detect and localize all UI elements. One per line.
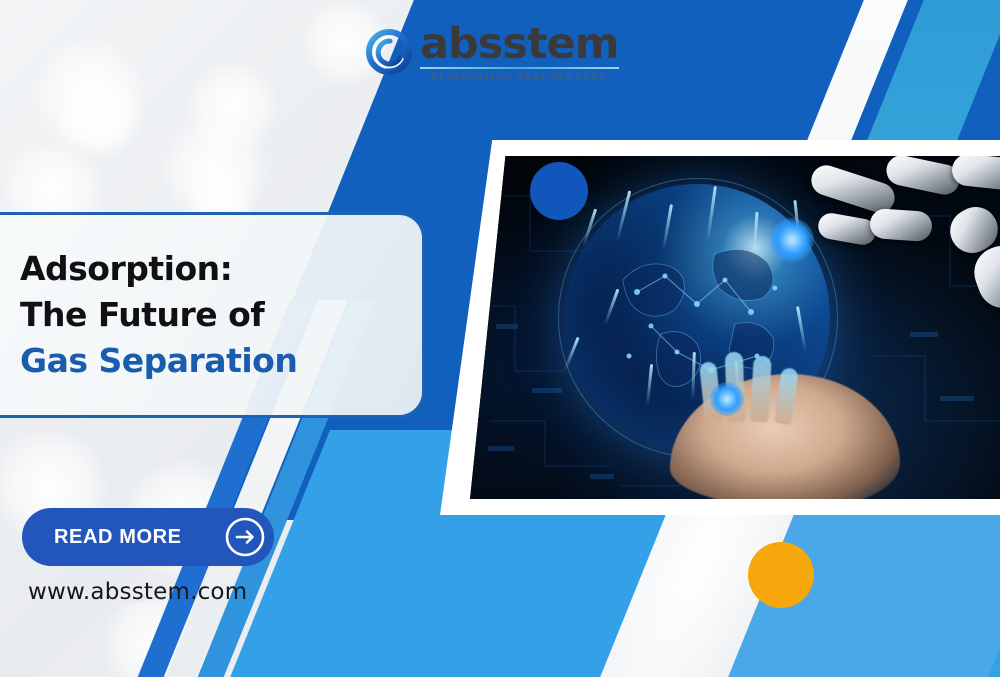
headline-line-2: The Future of — [20, 295, 422, 335]
accent-circle-orange — [748, 542, 814, 608]
accent-circle-blue — [530, 162, 588, 220]
human-finger — [750, 356, 771, 423]
bokeh-light — [90, 600, 230, 677]
robot-finger-segment — [869, 208, 933, 242]
headline-card: Adsorption: The Future of Gas Separation — [0, 212, 425, 418]
headline-line-3: Gas Separation — [20, 341, 422, 381]
robot-finger-segment — [884, 156, 963, 197]
promotional-banner: absstem REINVENTING PERFORMANCE Adsorpti… — [0, 0, 1000, 677]
website-url[interactable]: www.absstem.com — [28, 579, 247, 605]
glow-node — [710, 382, 744, 416]
logo-divider — [420, 67, 619, 69]
bokeh-light — [160, 118, 270, 223]
robot-finger-segment — [816, 211, 878, 247]
read-more-label: READ MORE — [54, 526, 182, 549]
arrow-right-circle-icon — [224, 516, 266, 558]
circular-swirl-icon — [366, 29, 412, 75]
bokeh-light — [185, 62, 280, 152]
read-more-button[interactable]: READ MORE — [22, 508, 274, 566]
glow-node — [770, 218, 814, 262]
brand-logo[interactable]: absstem REINVENTING PERFORMANCE — [366, 24, 619, 81]
logo-wordmark: absstem — [420, 24, 619, 65]
logo-tagline: REINVENTING PERFORMANCE — [420, 72, 619, 81]
headline-line-1: Adsorption: — [20, 249, 422, 289]
bokeh-light — [55, 78, 145, 158]
bokeh-light — [30, 40, 150, 150]
robotic-hand — [800, 156, 1000, 315]
